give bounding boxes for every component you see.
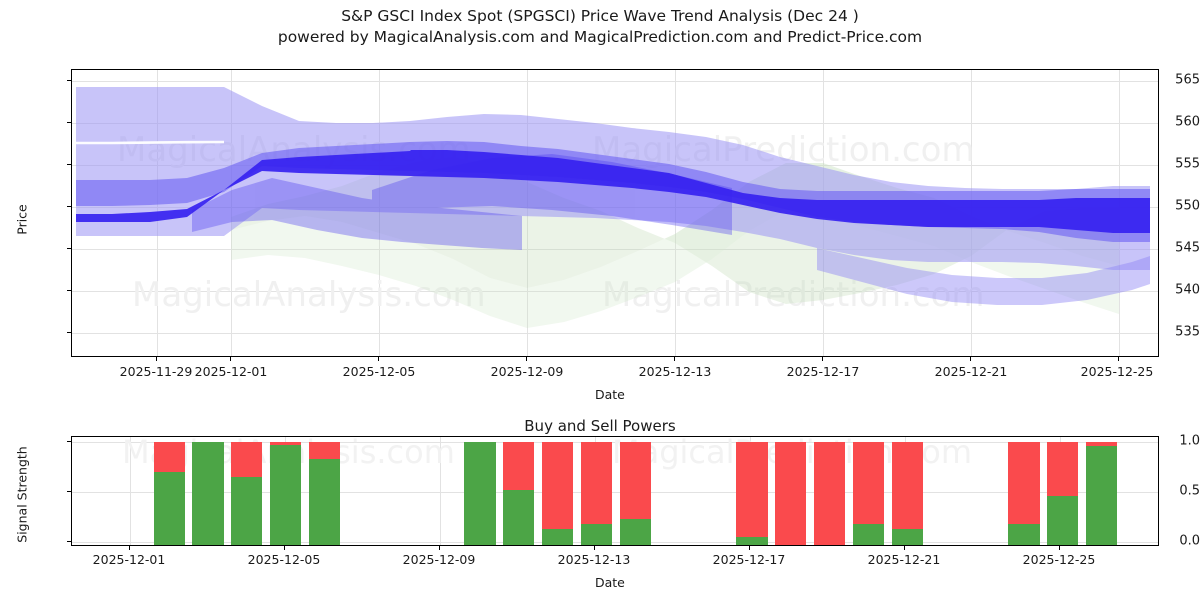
bar-2025-12-24[interactable] — [1086, 442, 1117, 546]
xtick-mark — [1059, 546, 1060, 550]
xtick-mark — [230, 357, 231, 361]
xtick-mark — [674, 357, 675, 361]
sell-power-segment — [1008, 442, 1039, 524]
median-price-line — [76, 142, 224, 143]
bar-2025-12-17[interactable] — [814, 442, 845, 546]
xtick-label: 2025-12-05 — [343, 364, 416, 379]
xtick-mark — [822, 357, 823, 361]
buy-power-segment — [464, 442, 495, 546]
buy-power-segment — [542, 529, 573, 546]
sell-power-segment — [736, 442, 767, 537]
buy-sell-xlabel: Date — [595, 575, 625, 590]
bar-2025-12-10[interactable] — [542, 442, 573, 546]
sell-power-segment — [620, 442, 651, 519]
sell-power-segment — [581, 442, 612, 524]
buy-power-segment — [192, 442, 223, 546]
buy-power-segment — [620, 519, 651, 546]
sell-power-segment — [814, 442, 845, 546]
xtick-label: 2025-12-21 — [935, 364, 1008, 379]
xtick-label: 2025-12-25 — [1081, 364, 1154, 379]
bar-2025-12-03[interactable] — [270, 442, 301, 546]
bar-2025-12-19[interactable] — [892, 442, 923, 546]
bar-2025-12-16[interactable] — [775, 442, 806, 546]
xtick-mark — [970, 357, 971, 361]
xtick-mark — [439, 546, 440, 550]
bar-2025-12-01[interactable] — [192, 442, 223, 546]
bar-2025-12-09[interactable] — [503, 442, 534, 546]
buy-power-segment — [1008, 524, 1039, 546]
bar-2025-12-12[interactable] — [620, 442, 651, 546]
bar-2025-12-08[interactable] — [464, 442, 495, 546]
buy-power-segment — [853, 524, 884, 546]
xtick-mark — [526, 357, 527, 361]
bar-2025-12-15[interactable] — [736, 442, 767, 546]
buy-power-segment — [503, 490, 534, 546]
buy-power-segment — [231, 477, 262, 546]
buy-sell-ylabel: Signal Strength — [15, 435, 30, 555]
buy-power-segment — [892, 529, 923, 546]
xtick-mark — [594, 546, 595, 550]
chart-page: S&P GSCI Index Spot (SPGSCI) Price Wave … — [0, 0, 1200, 600]
bar-2025-12-04[interactable] — [309, 442, 340, 546]
sell-power-segment — [542, 442, 573, 529]
bar-2025-12-18[interactable] — [853, 442, 884, 546]
buy-power-segment — [581, 524, 612, 546]
xtick-mark — [156, 357, 157, 361]
price-wave-plot-area: MagicalAnalysis.com MagicalPrediction.co… — [71, 69, 1159, 357]
sell-power-segment — [892, 442, 923, 529]
bar-2025-12-22[interactable] — [1008, 442, 1039, 546]
xtick-label: 2025-12-17 — [787, 364, 860, 379]
sell-power-segment — [503, 442, 534, 490]
xtick-label: 2025-12-09 — [491, 364, 564, 379]
buy-power-segment — [154, 472, 185, 546]
bar-2025-12-11[interactable] — [581, 442, 612, 546]
sell-power-segment — [309, 442, 340, 459]
price-wave-ylabel: Price — [15, 190, 30, 250]
sell-power-segment — [1047, 442, 1078, 496]
xtick-mark — [284, 546, 285, 550]
buy-sell-panel: Buy and Sell Powers Signal Strength 1.0 … — [0, 405, 1200, 600]
buy-sell-plot-area: MagicalAnalysis.com MagicalPrediction.co… — [71, 436, 1159, 546]
bar-2025-12-23[interactable] — [1047, 442, 1078, 546]
xtick-mark — [129, 546, 130, 550]
bar-series-container — [72, 442, 1159, 546]
xtick-label: 2025-12-13 — [558, 552, 631, 567]
xtick-mark — [378, 357, 379, 361]
xtick-label: 2025-12-05 — [248, 552, 321, 567]
buy-sell-title: Buy and Sell Powers — [0, 417, 1200, 435]
buy-power-segment — [270, 445, 301, 546]
sell-power-segment — [231, 442, 262, 477]
bar-2025-11-30[interactable] — [154, 442, 185, 546]
xtick-label: 2025-12-17 — [713, 552, 786, 567]
xtick-label: 2025-11-29 — [120, 364, 193, 379]
sell-power-segment — [775, 442, 806, 546]
buy-power-segment — [736, 537, 767, 547]
buy-power-segment — [1086, 446, 1117, 546]
xtick-label: 2025-12-01 — [93, 552, 166, 567]
xtick-label: 2025-12-21 — [868, 552, 941, 567]
bar-2025-12-02[interactable] — [231, 442, 262, 546]
sell-power-segment — [154, 442, 185, 472]
sell-power-segment — [853, 442, 884, 524]
xtick-label: 2025-12-25 — [1023, 552, 1096, 567]
price-wave-xlabel: Date — [595, 387, 625, 402]
buy-power-segment — [1047, 496, 1078, 546]
xtick-label: 2025-12-09 — [403, 552, 476, 567]
xtick-label: 2025-12-01 — [195, 364, 268, 379]
xtick-mark — [1118, 357, 1119, 361]
price-wave-bands — [72, 70, 1159, 357]
xtick-label: 2025-12-13 — [639, 364, 712, 379]
xtick-mark — [749, 546, 750, 550]
buy-power-segment — [309, 459, 340, 546]
price-wave-panel: Price 565 560 555 550 545 540 535 — [0, 0, 1200, 405]
xtick-mark — [904, 546, 905, 550]
